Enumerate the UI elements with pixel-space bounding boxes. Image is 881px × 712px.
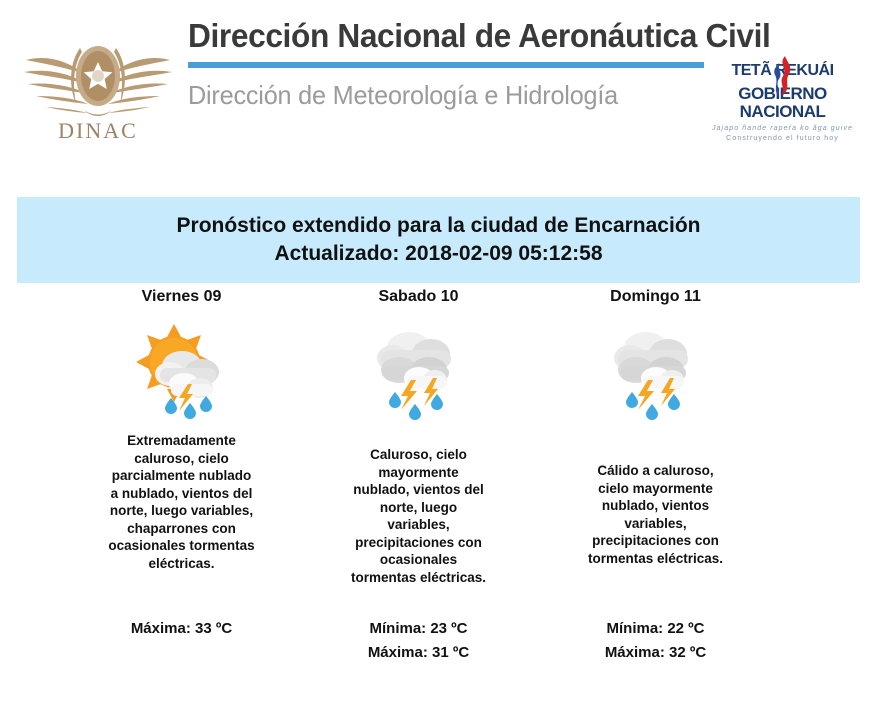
temperature-row: Máxima: 33 ºC Mínima: 23 ºC Máxima: 31 º… [17, 617, 860, 665]
dinac-wordmark: DINAC [18, 118, 178, 144]
page-header: DINAC Dirección Nacional de Aeronáutica … [0, 0, 881, 170]
banner-title: Pronóstico extendido para la ciudad de E… [177, 212, 701, 240]
temperature-sunday: Mínima: 22 ºC Máxima: 32 ºC [537, 617, 774, 665]
banner-updated: Actualizado: 2018-02-09 05:12:58 [275, 240, 603, 268]
sun-cloud-thunder-rain-icon [122, 316, 242, 424]
gov-logo-tagline-guarani: Jajapo ñande rapeŕa ko ãga guive [700, 124, 865, 134]
temp-max: Máxima: 33 ºC [63, 617, 300, 641]
forecast-day-sunday: Domingo 11 [537, 288, 774, 586]
title-divider [188, 62, 704, 68]
flame-icon [772, 56, 794, 96]
temp-min: Mínima: 22 ºC [537, 617, 774, 641]
day-label: Viernes 09 [142, 288, 222, 310]
gov-logo-tagline-spanish: Construyendo el futuro hoy [700, 134, 865, 144]
forecast-columns: Viernes 09 [17, 288, 860, 586]
cloud-thunder-rain-icon [596, 316, 716, 424]
temp-max: Máxima: 32 ºC [537, 641, 774, 665]
day-description: Extremadamente caluroso, cielo parcialme… [107, 432, 257, 572]
day-label: Domingo 11 [610, 288, 701, 310]
dinac-logo: DINAC [18, 18, 178, 150]
forecast-banner: Pronóstico extendido para la ciudad de E… [17, 197, 860, 283]
temp-min: Mínima: 23 ºC [300, 617, 537, 641]
cloud-thunder-rain-icon [359, 316, 479, 424]
temperature-saturday: Mínima: 23 ºC Máxima: 31 ºC [300, 617, 537, 665]
forecast-day-saturday: Sabado 10 [300, 288, 537, 586]
day-label: Sabado 10 [378, 288, 458, 310]
day-description: Cálido a caluroso, cielo mayormente nubl… [586, 462, 726, 567]
gobierno-nacional-logo: TETÃ REKUÁI GOBIERNO NACIONAL Jajapo ñan… [700, 62, 865, 132]
forecast-day-friday: Viernes 09 [63, 288, 300, 586]
page-title: Dirección Nacional de Aeronáutica Civil [188, 16, 687, 56]
header-title-block: Dirección Nacional de Aeronáutica Civil … [188, 16, 708, 111]
page-subtitle: Dirección de Meteorología e Hidrología [188, 80, 692, 111]
day-description: Caluroso, cielo mayormente nublado, vien… [349, 446, 489, 586]
temperature-friday: Máxima: 33 ºC [63, 617, 300, 665]
temp-max: Máxima: 31 ºC [300, 641, 537, 665]
